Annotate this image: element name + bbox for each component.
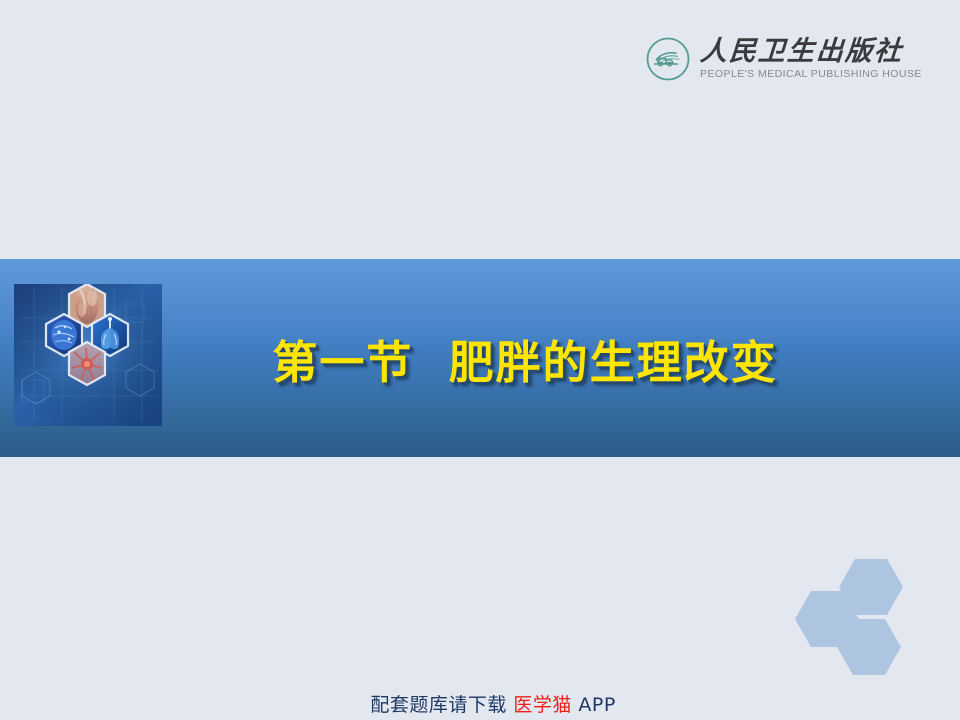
- hexagon-cluster-decoration: [795, 557, 930, 677]
- publisher-wordmark: 人民卫生出版社 PEOPLE'S MEDICAL PUBLISHING HOUS…: [700, 36, 922, 82]
- footer-suffix: APP: [572, 694, 616, 716]
- publisher-logo: 人民卫生出版社 PEOPLE'S MEDICAL PUBLISHING HOUS…: [645, 30, 895, 88]
- slide-canvas: 人民卫生出版社 PEOPLE'S MEDICAL PUBLISHING HOUS…: [0, 0, 960, 720]
- publisher-name-cn: 人民卫生出版社: [699, 38, 923, 66]
- footer-brand: 医学猫: [513, 694, 572, 716]
- publisher-name-en: PEOPLE'S MEDICAL PUBLISHING HOUSE: [700, 68, 922, 82]
- pmph-circular-emblem-icon: [645, 36, 691, 82]
- slide-title: 第一节 肥胖的生理改变: [0, 259, 960, 457]
- footer-note: 配套题库请下载 医学猫 APP: [0, 668, 960, 720]
- footer-prefix: 配套题库请下载: [370, 694, 513, 716]
